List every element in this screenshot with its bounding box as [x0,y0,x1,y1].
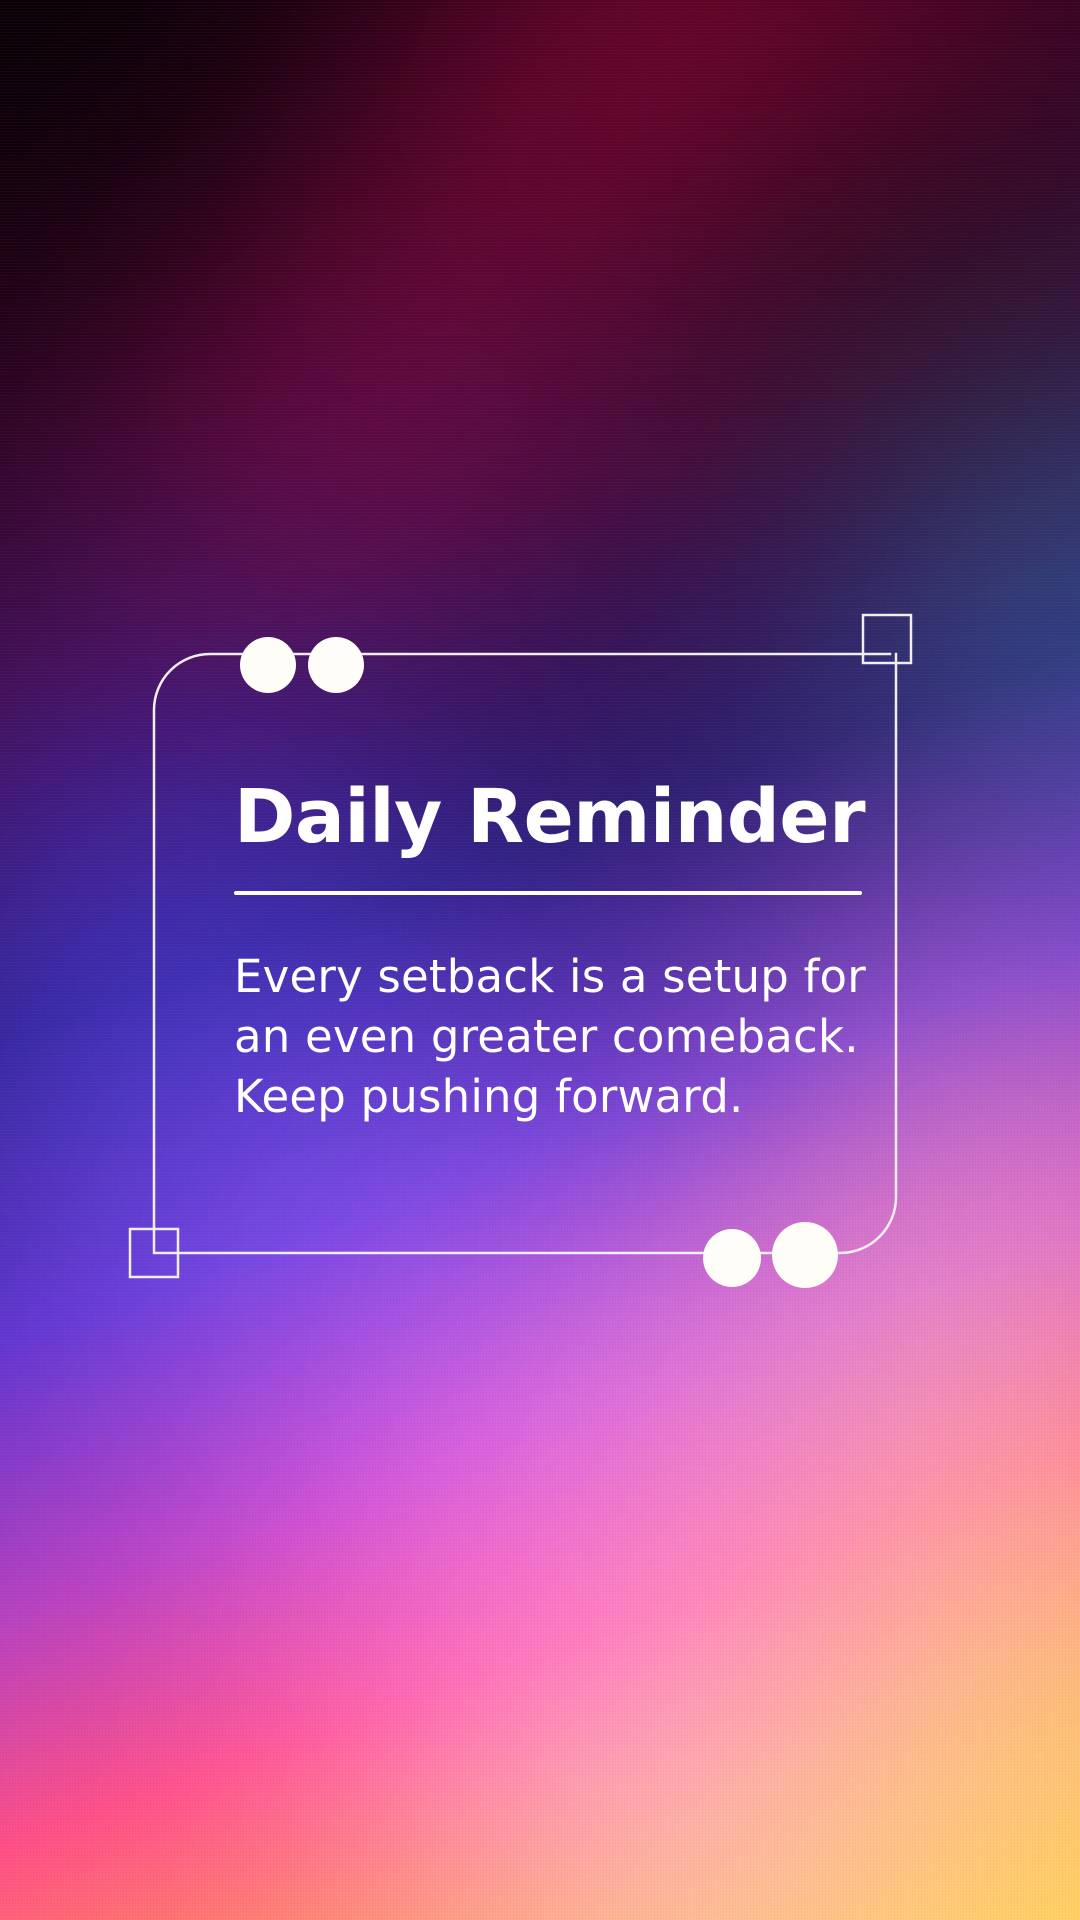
dot-bottom-right-2 [772,1222,838,1288]
page-title: Daily Reminder [234,780,874,855]
dot-top-left-1 [240,637,296,693]
poster-canvas: Daily Reminder Every setback is a setup … [0,0,1080,1920]
dot-top-left-2 [308,637,364,693]
title-divider [234,891,862,895]
quote-text: Every setback is a setup for an even gre… [234,947,874,1127]
dot-bottom-right-1 [703,1229,761,1287]
quote-line-2: an even greater comeback. [234,1007,874,1067]
card-content: Daily Reminder Every setback is a setup … [234,780,874,1127]
quote-line-1: Every setback is a setup for [234,947,874,1007]
quote-line-3: Keep pushing forward. [234,1067,874,1127]
